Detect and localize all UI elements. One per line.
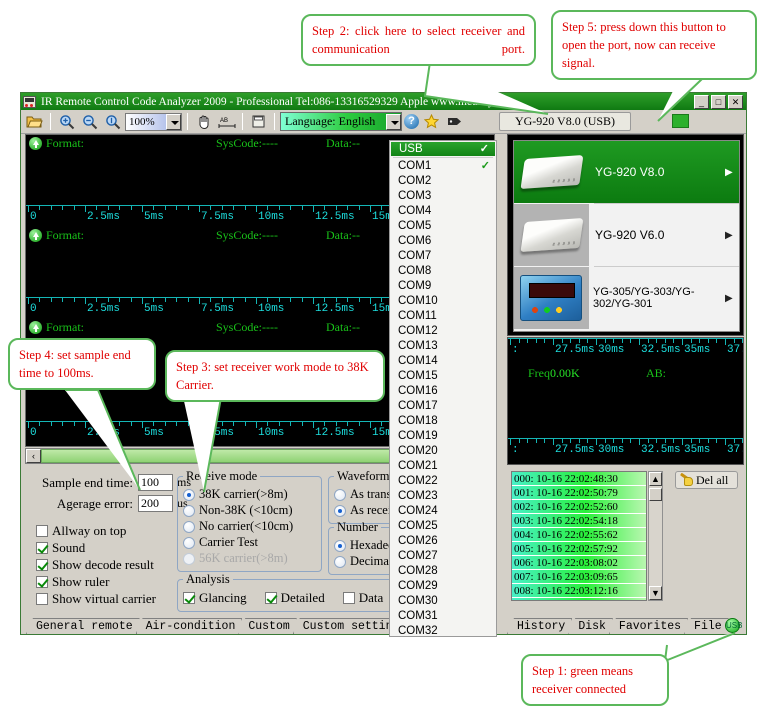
ruler-tick-minor <box>39 422 40 426</box>
history-log-list[interactable]: 000: 10-16 22:02:48:30 001: 10-16 22:02:… <box>511 471 647 601</box>
checkbox-label: Sound <box>52 540 85 556</box>
device-item-yg305-series[interactable]: YG-305/YG-303/YG-302/YG-301 ▶ <box>514 267 739 329</box>
delete-all-label: Del all <box>696 473 728 488</box>
ruler-tick-minor <box>39 298 40 302</box>
ruler-tick-minor <box>176 206 177 210</box>
ruler-tick <box>313 422 314 428</box>
ruler-label: 27.5ms <box>555 444 595 456</box>
ruler-tick-minor <box>279 206 280 210</box>
menu-item-label: COM5 <box>398 219 431 234</box>
ruler-tick-minor <box>51 298 52 302</box>
radio-non-38k[interactable]: Non-38K (<10cm) <box>183 503 316 518</box>
toolbar-divider <box>187 113 188 130</box>
ruler-tick-minor <box>324 206 325 210</box>
ruler-label: 2.5ms <box>87 303 120 315</box>
syscode-label: SysCode:---- <box>216 136 278 151</box>
menu-item-com28[interactable]: COM28 <box>390 564 496 579</box>
ruler-label: : <box>512 344 519 356</box>
broom-icon <box>680 474 693 486</box>
frequency-value: 0.00K <box>550 366 580 380</box>
menu-item-com14[interactable]: COM14 <box>390 354 496 369</box>
menu-item-com18[interactable]: COM18 <box>390 414 496 429</box>
receiver-box-icon <box>514 141 589 203</box>
ruler-tick-minor <box>579 439 580 443</box>
callout-step-2-tail <box>420 62 555 132</box>
radio-dot[interactable] <box>183 521 195 533</box>
syscode-label: SysCode:---- <box>216 228 278 243</box>
menu-item-label: COM4 <box>398 204 431 219</box>
ruler-tick-minor <box>579 339 580 343</box>
scroll-down-button[interactable]: ▼ <box>649 586 662 600</box>
ruler-tick <box>142 298 143 304</box>
menu-item-label: COM23 <box>398 489 438 504</box>
ruler-tick-minor <box>222 206 223 210</box>
checkbox-detailed[interactable]: Detailed <box>265 590 325 606</box>
checkbox-glancing[interactable]: Glancing <box>183 590 247 606</box>
menu-item-label: COM30 <box>398 594 438 609</box>
expand-arrow-icon[interactable] <box>29 321 42 334</box>
ruler-tick <box>596 339 597 345</box>
frequency-label: Freq <box>528 366 550 380</box>
menu-item-label: COM18 <box>398 414 438 429</box>
ruler-tick-minor <box>381 298 382 302</box>
check-icon: ✓ <box>480 142 489 157</box>
callout-step-5-tail <box>640 77 710 127</box>
ruler-tick <box>370 422 371 428</box>
radio-dot[interactable] <box>183 537 195 549</box>
menu-item-com9[interactable]: COM9 <box>390 279 496 294</box>
ruler-tick-minor <box>324 298 325 302</box>
ruler-tick <box>313 298 314 304</box>
device-name: YG-920 V6.0 <box>589 228 725 242</box>
ruler-tick-minor <box>39 206 40 210</box>
ruler-label: 0 <box>30 303 37 315</box>
checkbox-label: Detailed <box>281 590 325 606</box>
ruler-tick-minor <box>267 422 268 426</box>
ruler-tick-minor <box>165 206 166 210</box>
device-item-yg920-v8[interactable]: YG-920 V8.0 ▶ <box>514 141 739 203</box>
ruler-tick-minor <box>587 439 588 443</box>
tab-custom[interactable]: Custom <box>238 618 296 634</box>
menu-item-com22[interactable]: COM22 <box>390 474 496 489</box>
device-item-yg920-v6[interactable]: YG-920 V6.0 ▶ <box>514 204 739 266</box>
device-name: YG-920 V8.0 <box>589 165 725 179</box>
ruler-tick-minor <box>96 298 97 302</box>
ruler-label: 0 <box>30 427 37 439</box>
device-name: YG-305/YG-303/YG-302/YG-301 <box>589 286 725 310</box>
svg-text:AB: AB <box>220 118 228 124</box>
ruler-tick-minor <box>153 206 154 210</box>
menu-item-com20[interactable]: COM20 <box>390 444 496 459</box>
callout-step-5: Step 5: press down this button to open t… <box>551 10 757 80</box>
open-folder-icon[interactable] <box>24 112 45 132</box>
chevron-right-icon[interactable]: ▶ <box>725 167 739 178</box>
checkbox-show-ruler[interactable]: Show ruler <box>36 574 156 590</box>
ruler-tick-minor <box>536 439 537 443</box>
checkbox-box[interactable] <box>36 576 48 588</box>
device-list[interactable]: YG-920 V8.0 ▶ YG-920 V6.0 ▶ YG-305/YG-30… <box>513 140 740 332</box>
expand-arrow-icon[interactable] <box>29 137 42 150</box>
ruler-tick-minor <box>562 439 563 443</box>
ruler-tick-minor <box>630 339 631 343</box>
menu-item-label: COM24 <box>398 504 438 519</box>
ruler-tick <box>370 206 371 212</box>
time-ruler-right: :27.5ms30ms32.5ms35ms37.5ms <box>508 338 743 360</box>
menu-item-com4[interactable]: COM4 <box>390 204 496 219</box>
checkbox-label: Show decode result <box>52 557 154 573</box>
scroll-left-button[interactable]: ‹ <box>26 449 41 463</box>
ruler-tick-minor <box>131 298 132 302</box>
ruler-tick-minor <box>302 206 303 210</box>
chevron-right-icon[interactable]: ▶ <box>725 293 739 304</box>
ruler-label: : <box>512 444 519 456</box>
meter-device-icon <box>514 267 589 329</box>
log-vertical-scrollbar[interactable]: ▲ ▼ <box>648 471 663 601</box>
toolbar-divider <box>242 113 243 130</box>
toolbar: 100% AB Language: English ? YG-920 V8.0 … <box>21 110 746 134</box>
menu-item-com31[interactable]: COM31 <box>390 609 496 624</box>
menu-item-label: COM14 <box>398 354 438 369</box>
list-item[interactable]: 001: 10-16 22:02:50:79 <box>512 486 646 500</box>
delete-all-button[interactable]: Del all <box>675 471 738 489</box>
ruler-tick-minor <box>622 439 623 443</box>
ruler-tick <box>553 439 554 445</box>
menu-item-com30[interactable]: COM30 <box>390 594 496 609</box>
list-item[interactable]: 005: 10-16 22:02:57:92 <box>512 542 646 556</box>
zoom-in-icon[interactable] <box>56 112 77 132</box>
checkbox-box[interactable] <box>265 592 277 604</box>
radio-dot[interactable] <box>334 556 346 568</box>
ruler-tick-minor <box>742 439 743 443</box>
ruler-tick <box>199 298 200 304</box>
checkbox-sound[interactable]: Sound <box>36 540 156 556</box>
port-dropdown-menu[interactable]: USB ✓ COM1✓COM2COM3COM4COM5COM6COM7COM8C… <box>389 140 497 637</box>
radio-dot[interactable] <box>334 505 346 517</box>
ruler-label: 10ms <box>258 427 284 439</box>
log-tab-strip: History Disk Favorites File USB <box>507 617 744 634</box>
format-label: Format: <box>46 136 84 151</box>
menu-item-com11[interactable]: COM11 <box>390 309 496 324</box>
ruler-label: 30ms <box>598 444 624 456</box>
list-item[interactable]: 003: 10-16 22:02:54:18 <box>512 514 646 528</box>
menu-item-label: COM26 <box>398 534 438 549</box>
list-item[interactable]: 006: 10-16 22:03:08:02 <box>512 556 646 570</box>
ruler-tick-minor <box>51 206 52 210</box>
menu-item-usb[interactable]: USB ✓ <box>391 142 495 156</box>
tab-favorites[interactable]: Favorites <box>609 618 688 634</box>
ruler-tick <box>725 339 726 345</box>
list-item[interactable]: 004: 10-16 22:02:55:62 <box>512 528 646 542</box>
menu-item-com16[interactable]: COM16 <box>390 384 496 399</box>
menu-item-com3[interactable]: COM3 <box>390 189 496 204</box>
ruler-tick-minor <box>570 339 571 343</box>
menu-item-com8[interactable]: COM8 <box>390 264 496 279</box>
ruler-label: 37.5ms <box>727 344 744 356</box>
language-selector[interactable]: Language: English <box>280 112 402 131</box>
list-item[interactable]: 007: 10-16 22:03:09:65 <box>512 570 646 584</box>
radio-label: Non-38K (<10cm) <box>199 503 293 518</box>
menu-item-com12[interactable]: COM12 <box>390 324 496 339</box>
radio-no-carrier[interactable]: No carrier(<10cm) <box>183 519 316 534</box>
menu-item-com21[interactable]: COM21 <box>390 459 496 474</box>
measure-icon[interactable]: AB <box>216 112 237 132</box>
checkbox-box[interactable] <box>36 559 48 571</box>
ruler-tick-minor <box>708 339 709 343</box>
frequency-readout: Freq0.00K <box>528 366 580 381</box>
ruler-tick-minor <box>302 298 303 302</box>
ruler-label: 30ms <box>598 344 624 356</box>
hand-pan-icon[interactable] <box>193 112 214 132</box>
app-icon <box>23 96 36 108</box>
ruler-tick-minor <box>302 422 303 426</box>
menu-item-com25[interactable]: COM25 <box>390 519 496 534</box>
menu-item-com27[interactable]: COM27 <box>390 549 496 564</box>
menu-item-label: COM16 <box>398 384 438 399</box>
close-button[interactable]: ✕ <box>728 95 743 109</box>
ruler-label: 5ms <box>144 303 164 315</box>
checkbox-label: Show ruler <box>52 574 109 590</box>
tab-disk[interactable]: Disk <box>568 618 613 634</box>
scroll-up-button[interactable]: ▲ <box>649 472 662 486</box>
radio-dot[interactable] <box>334 489 346 501</box>
menu-item-com17[interactable]: COM17 <box>390 399 496 414</box>
chevron-right-icon[interactable]: ▶ <box>725 230 739 241</box>
checkbox-box[interactable] <box>36 593 48 605</box>
menu-item-com13[interactable]: COM13 <box>390 339 496 354</box>
ruler-tick <box>28 298 29 304</box>
menu-item-com1[interactable]: COM1✓ <box>390 159 496 174</box>
ruler-tick-minor <box>62 206 63 210</box>
ruler-tick <box>596 439 597 445</box>
chevron-down-icon[interactable] <box>166 114 181 130</box>
list-item[interactable]: 000: 10-16 22:02:48:30 <box>512 472 646 486</box>
checkbox-label: Show virtual carrier <box>52 591 156 607</box>
ruler-tick-minor <box>336 206 337 210</box>
ruler-tick-minor <box>613 339 614 343</box>
ruler-label: 2.5ms <box>87 211 120 223</box>
ruler-tick-minor <box>165 422 166 426</box>
ruler-label: 37.5ms <box>727 444 744 456</box>
tab-general-remote[interactable]: General remote <box>26 618 140 634</box>
checkbox-show-virtual-carrier[interactable]: Show virtual carrier <box>36 591 156 607</box>
ruler-label: 32.5ms <box>641 444 681 456</box>
ruler-tick-minor <box>699 439 700 443</box>
ruler-tick-minor <box>74 206 75 210</box>
ruler-tick-minor <box>562 339 563 343</box>
ruler-tick-minor <box>570 439 571 443</box>
ruler-tick-minor <box>648 339 649 343</box>
ruler-tick-minor <box>716 439 717 443</box>
menu-item-label: COM20 <box>398 444 438 459</box>
ruler-tick-minor <box>519 439 520 443</box>
tab-air-condition[interactable]: Air-condition <box>136 618 243 634</box>
expand-arrow-icon[interactable] <box>29 229 42 242</box>
ruler-tick <box>725 439 726 445</box>
ruler-tick-minor <box>673 439 674 443</box>
ruler-tick-minor <box>347 298 348 302</box>
ruler-tick-minor <box>648 439 649 443</box>
ruler-tick-minor <box>188 206 189 210</box>
ruler-tick <box>639 439 640 445</box>
list-item[interactable]: 002: 10-16 22:02:52:60 <box>512 500 646 514</box>
zoom-out-icon[interactable] <box>79 112 100 132</box>
ruler-tick-minor <box>324 422 325 426</box>
waveform-scope-right[interactable]: :27.5ms30ms32.5ms35ms37.5ms Freq0.00K AB… <box>507 337 744 465</box>
ruler-label: 27.5ms <box>555 344 595 356</box>
ruler-tick-minor <box>527 339 528 343</box>
ruler-tick-minor <box>544 339 545 343</box>
menu-item-label: COM21 <box>398 459 438 474</box>
ruler-tick-minor <box>279 298 280 302</box>
menu-item-com23[interactable]: COM23 <box>390 489 496 504</box>
ruler-tick-minor <box>656 339 657 343</box>
checkbox-allway-on-top[interactable]: Allway on top <box>36 523 156 539</box>
menu-item-label: COM12 <box>398 324 438 339</box>
menu-item-com2[interactable]: COM2 <box>390 174 496 189</box>
ruler-tick-minor <box>176 298 177 302</box>
ruler-tick <box>256 298 257 304</box>
menu-item-label: COM28 <box>398 564 438 579</box>
zoom-level-combo[interactable]: 100% <box>125 113 182 131</box>
tab-history[interactable]: History <box>507 618 572 634</box>
ruler-tick-minor <box>279 422 280 426</box>
ruler-tick <box>28 422 29 428</box>
print-icon[interactable] <box>248 112 269 132</box>
callout-step-1: Step 1: green means receiver connected <box>521 654 669 706</box>
menu-item-com32[interactable]: COM32 <box>390 624 496 639</box>
menu-divider <box>393 157 493 158</box>
callout-step-4: Step 4: set sample end time to 100ms. <box>8 338 156 390</box>
ruler-tick-minor <box>131 206 132 210</box>
ruler-tick-minor <box>165 298 166 302</box>
menu-item-com15[interactable]: COM15 <box>390 369 496 384</box>
menu-item-label: COM31 <box>398 609 438 624</box>
radio-dot[interactable] <box>334 540 346 552</box>
ruler-label: 0 <box>30 211 37 223</box>
time-ruler-right: :27.5ms30ms32.5ms35ms37.5ms <box>508 438 743 460</box>
ruler-tick-minor <box>691 339 692 343</box>
menu-item-label: COM13 <box>398 339 438 354</box>
ruler-tick-minor <box>742 339 743 343</box>
menu-item-label: COM10 <box>398 294 438 309</box>
ruler-label: 12.5ms <box>315 427 355 439</box>
menu-item-com6[interactable]: COM6 <box>390 234 496 249</box>
ruler-label: 10ms <box>258 211 284 223</box>
ruler-label: 10ms <box>258 303 284 315</box>
menu-item-com5[interactable]: COM5 <box>390 219 496 234</box>
ruler-tick-minor <box>699 339 700 343</box>
menu-item-com24[interactable]: COM24 <box>390 504 496 519</box>
menu-item-label: COM25 <box>398 519 438 534</box>
scrollbar-thumb[interactable] <box>649 488 662 501</box>
checkbox-data[interactable]: Data <box>343 590 384 606</box>
ruler-tick <box>199 206 200 212</box>
ruler-tick-minor <box>210 298 211 302</box>
checkbox-label: Allway on top <box>52 523 126 539</box>
tab-file[interactable]: File <box>684 618 729 634</box>
checkbox-label: Data <box>359 590 384 606</box>
maximize-button[interactable]: □ <box>711 95 726 109</box>
menu-item-label: COM7 <box>398 249 431 264</box>
list-item[interactable]: 008: 10-16 22:03:12:16 <box>512 584 646 598</box>
radio-carrier-test[interactable]: Carrier Test <box>183 535 316 550</box>
ruler-tick-minor <box>222 298 223 302</box>
ruler-tick-minor <box>673 339 674 343</box>
ruler-tick-minor <box>290 422 291 426</box>
ruler-tick-minor <box>108 206 109 210</box>
menu-item-com7[interactable]: COM7 <box>390 249 496 264</box>
ruler-label: 35ms <box>684 444 710 456</box>
list-item[interactable]: 009: 10-16 22:03:25:60 <box>512 598 646 601</box>
checkbox-box[interactable] <box>36 525 48 537</box>
ruler-tick-minor <box>536 339 537 343</box>
ruler-tick-minor <box>613 439 614 443</box>
ruler-tick-minor <box>74 298 75 302</box>
menu-item-label: COM9 <box>398 279 431 294</box>
ruler-tick-minor <box>210 206 211 210</box>
ruler-tick-minor <box>665 339 666 343</box>
ruler-tick-minor <box>108 298 109 302</box>
ruler-tick <box>370 298 371 304</box>
menu-item-com26[interactable]: COM26 <box>390 534 496 549</box>
chevron-down-icon[interactable] <box>386 114 401 130</box>
format-label: Format: <box>46 320 84 335</box>
menu-item-com19[interactable]: COM19 <box>390 429 496 444</box>
radio-dot[interactable] <box>183 505 195 517</box>
ruler-tick-minor <box>51 422 52 426</box>
ruler-tick-minor <box>359 422 360 426</box>
help-icon[interactable]: ? <box>404 114 419 129</box>
ruler-tick-minor <box>188 298 189 302</box>
ruler-label: 12.5ms <box>315 211 355 223</box>
checkbox-label: Glancing <box>199 590 247 606</box>
checkbox-box[interactable] <box>343 592 355 604</box>
ruler-tick <box>142 206 143 212</box>
ruler-tick-minor <box>153 422 154 426</box>
ruler-tick <box>682 439 683 445</box>
ruler-tick-minor <box>708 439 709 443</box>
toolbar-divider <box>50 113 51 130</box>
menu-item-com29[interactable]: COM29 <box>390 579 496 594</box>
menu-item-label: COM2 <box>398 174 431 189</box>
ruler-tick <box>553 339 554 345</box>
ruler-tick-minor <box>519 339 520 343</box>
menu-item-com10[interactable]: COM10 <box>390 294 496 309</box>
menu-item-label: COM32 <box>398 624 438 639</box>
ruler-tick-minor <box>359 298 360 302</box>
checkbox-show-decode-result[interactable]: Show decode result <box>36 557 156 573</box>
history-log-panel: 000: 10-16 22:02:48:30 001: 10-16 22:02:… <box>507 468 744 618</box>
menu-item-label: COM22 <box>398 474 438 489</box>
ruler-tick-minor <box>290 298 291 302</box>
zoom-actual-icon[interactable] <box>102 112 123 132</box>
ruler-tick <box>28 206 29 212</box>
zoom-level-value: 100% <box>126 116 166 128</box>
ruler-tick-minor <box>630 439 631 443</box>
checkbox-box[interactable] <box>36 542 48 554</box>
callout-step-3-tail <box>180 392 260 502</box>
number-format-legend: Number <box>334 520 381 535</box>
checkbox-box[interactable] <box>183 592 195 604</box>
menu-item-label: COM17 <box>398 399 438 414</box>
ruler-label: 12.5ms <box>315 303 355 315</box>
menu-item-label: COM8 <box>398 264 431 279</box>
ruler-tick-minor <box>656 439 657 443</box>
ruler-tick-minor <box>119 298 120 302</box>
menu-item-label: COM27 <box>398 549 438 564</box>
ruler-tick-minor <box>347 422 348 426</box>
data-label: Data:-- <box>326 136 360 151</box>
